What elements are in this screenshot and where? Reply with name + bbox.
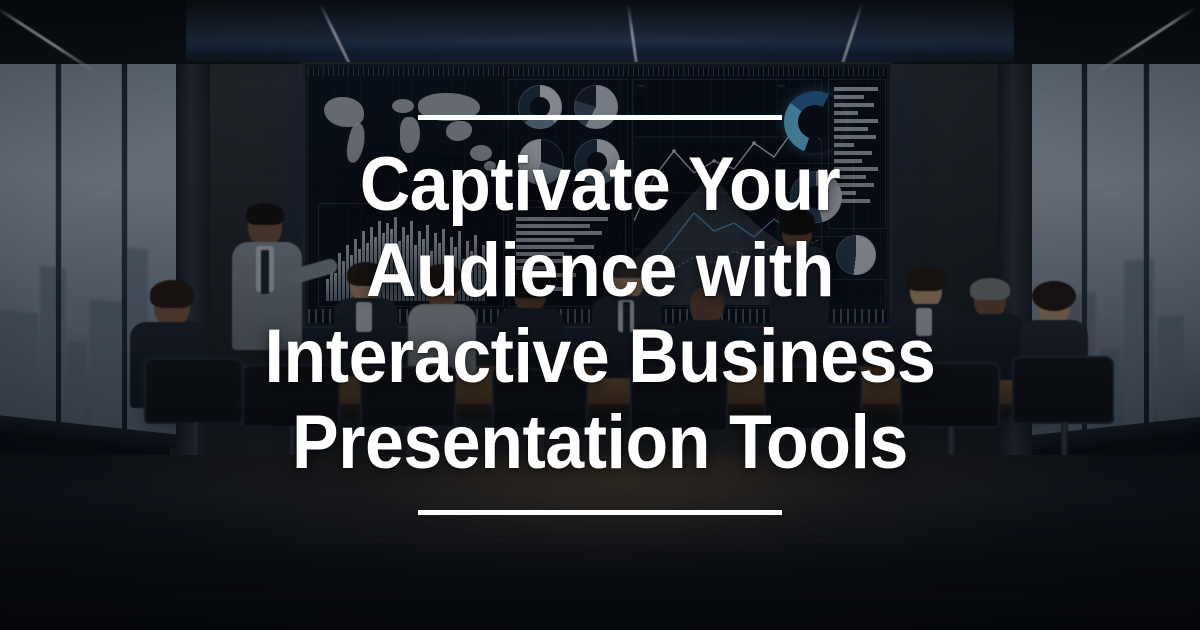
headline-line-2: Audience with	[122, 228, 1079, 314]
page-title: Captivate Your Audience with Interactive…	[122, 142, 1079, 486]
headline-line-4: Presentation Tools	[122, 400, 1079, 486]
title-block: Captivate Your Audience with Interactive…	[0, 0, 1200, 630]
rule-top	[418, 115, 782, 120]
rule-bottom	[418, 510, 782, 515]
headline-line-1: Captivate Your	[122, 142, 1079, 228]
banner-stage: ▪▪▪▪ ▪▪▪▪	[0, 0, 1200, 630]
headline-line-3: Interactive Business	[122, 314, 1079, 400]
